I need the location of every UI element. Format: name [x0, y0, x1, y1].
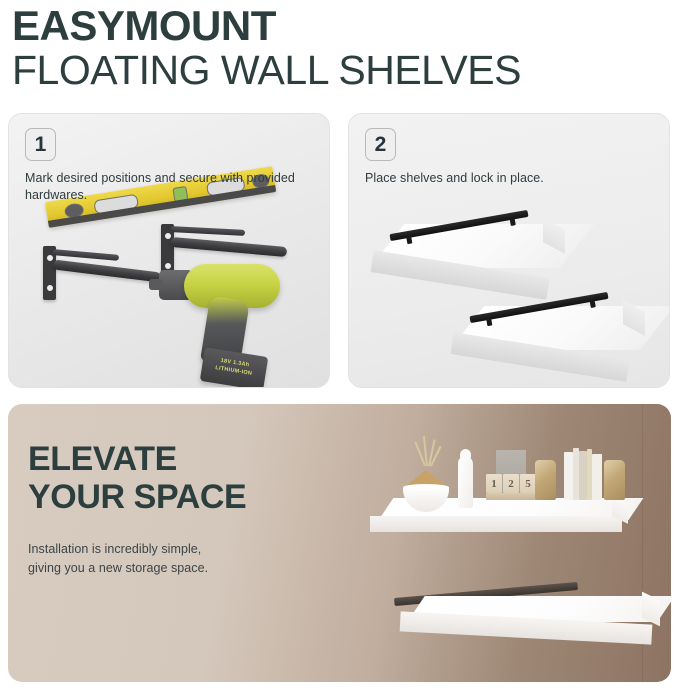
step-card-2: 2 Place shelves and lock in place.: [348, 113, 670, 388]
step-description-1: Mark desired positions and secure with p…: [25, 170, 315, 205]
white-bowl-rim: [403, 484, 449, 491]
calendar-block-3: 5: [520, 474, 536, 493]
page-title-bold: EASYMOUNT: [12, 4, 667, 48]
rail-tab: [509, 217, 515, 226]
white-figurine: [458, 456, 473, 508]
rail-tab: [589, 299, 595, 308]
page-title-light: FLOATING WALL SHELVES: [12, 48, 667, 92]
calendar-block-1: 1: [486, 474, 502, 493]
steps-row: 18V 1.3Ah LITHIUM-ION 1 Mark desired pos…: [8, 113, 671, 388]
gold-bookend-left: [535, 460, 556, 500]
hero-subtitle-line-2: giving you a new storage space.: [28, 559, 208, 578]
header: EASYMOUNT FLOATING WALL SHELVES: [0, 0, 679, 92]
book-5: [592, 454, 602, 500]
step-card-1: 18V 1.3Ah LITHIUM-ION 1 Mark desired pos…: [8, 113, 330, 388]
step-description-2: Place shelves and lock in place.: [365, 170, 655, 187]
gold-bookend-right: [604, 460, 625, 500]
level-vial-end-left: [64, 202, 85, 219]
calendar-block-base: [486, 493, 542, 500]
rail-tab: [406, 235, 412, 244]
step-number-badge-1: 1: [25, 128, 56, 161]
hero-title-line-1: ELEVATE: [28, 440, 246, 478]
step-number-badge-2: 2: [365, 128, 396, 161]
hero-subtitle-line-1: Installation is incredibly simple,: [28, 540, 208, 559]
hero-title: ELEVATE YOUR SPACE: [28, 440, 246, 517]
dried-flower-stems: [412, 442, 442, 466]
hero-panel: ELEVATE YOUR SPACE Installation is incre…: [8, 404, 671, 682]
hero-subtitle: Installation is incredibly simple, givin…: [28, 540, 208, 578]
calendar-block-2: 2: [503, 474, 519, 493]
book-3: [579, 451, 587, 500]
calendar-blocks: 1 2 5: [486, 474, 536, 493]
hero-shelf-upper-front: [370, 516, 622, 532]
hero-title-line-2: YOUR SPACE: [28, 478, 246, 516]
rail-tab: [486, 317, 492, 326]
book-1: [564, 452, 573, 500]
step-2-illustration: [349, 114, 669, 387]
step-1-illustration: 18V 1.3Ah LITHIUM-ION: [9, 114, 329, 387]
